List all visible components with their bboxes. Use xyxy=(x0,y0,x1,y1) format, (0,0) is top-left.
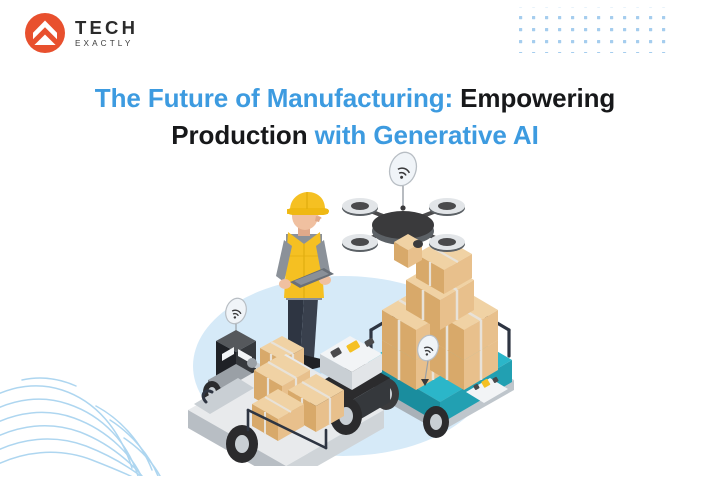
delivery-drone xyxy=(342,149,465,268)
page-title: The Future of Manufacturing: Empowering … xyxy=(60,80,650,154)
isometric-smart-warehouse-illustration xyxy=(178,148,523,466)
drone-rotor xyxy=(429,198,465,216)
drone-rotor xyxy=(342,234,378,252)
drone-wifi-signal-icon xyxy=(385,149,420,211)
fingerprint-wave-pattern xyxy=(0,368,170,481)
brand-logo[interactable]: TECH EXACTLY xyxy=(24,12,138,54)
drone-rotor xyxy=(429,234,465,252)
brand-tagline: EXACTLY xyxy=(75,39,138,49)
tech-exactly-chevron-logo-icon xyxy=(24,12,66,54)
title-segment-accent-1: The Future of Manufacturing: xyxy=(95,83,453,113)
dot-grid-pattern xyxy=(519,4,687,61)
brand-wordmark: TECH EXACTLY xyxy=(75,17,138,49)
drone-rotor xyxy=(342,198,378,216)
title-segment-dark-1: Empowering xyxy=(453,83,615,113)
brand-name: TECH xyxy=(75,18,138,37)
banner-page: TECH EXACTLY xyxy=(0,0,710,474)
pallet-cart xyxy=(366,238,514,438)
title-segment-dark-2: Production xyxy=(171,120,307,150)
title-segment-accent-2: with Generative AI xyxy=(308,120,539,150)
